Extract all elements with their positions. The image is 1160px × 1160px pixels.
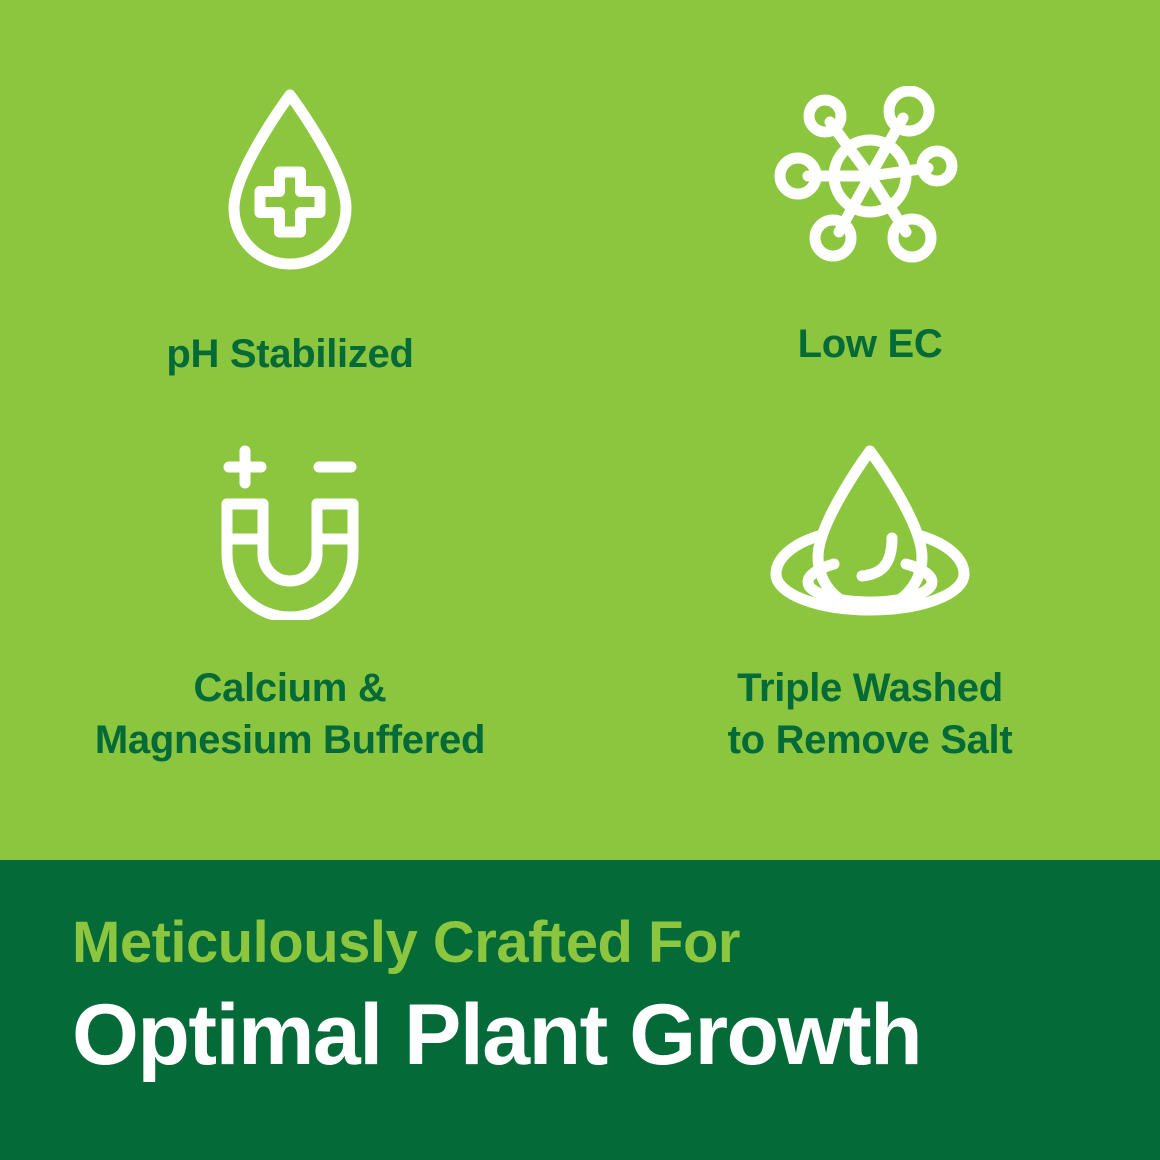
- feature-item-triple-washed: Triple Washed to Remove Salt: [580, 430, 1160, 860]
- water-drop-ripples-icon: [770, 442, 970, 620]
- feature-item-calcium-magnesium: Calcium & Magnesium Buffered: [0, 430, 580, 860]
- tagline-banner: Meticulously Crafted For Optimal Plant G…: [0, 860, 1160, 1160]
- features-panel: pH Stabilized: [0, 0, 1160, 860]
- water-drop-plus-icon: [222, 86, 358, 276]
- feature-grid: pH Stabilized: [0, 0, 1160, 860]
- feature-item-ph-stabilized: pH Stabilized: [0, 0, 580, 430]
- feature-item-low-ec: Low EC: [580, 0, 1160, 430]
- promo-graphic: pH Stabilized: [0, 0, 1160, 1160]
- tagline-headline: Optimal Plant Growth: [72, 992, 1160, 1078]
- feature-label: Triple Washed to Remove Salt: [728, 662, 1013, 766]
- feature-label: Calcium & Magnesium Buffered: [95, 662, 485, 766]
- tagline-eyebrow: Meticulously Crafted For: [72, 914, 1160, 972]
- feature-label: Low EC: [798, 318, 943, 370]
- molecule-node-network-icon: [770, 86, 970, 266]
- horseshoe-magnet-icon: [215, 442, 365, 620]
- feature-label: pH Stabilized: [166, 328, 413, 380]
